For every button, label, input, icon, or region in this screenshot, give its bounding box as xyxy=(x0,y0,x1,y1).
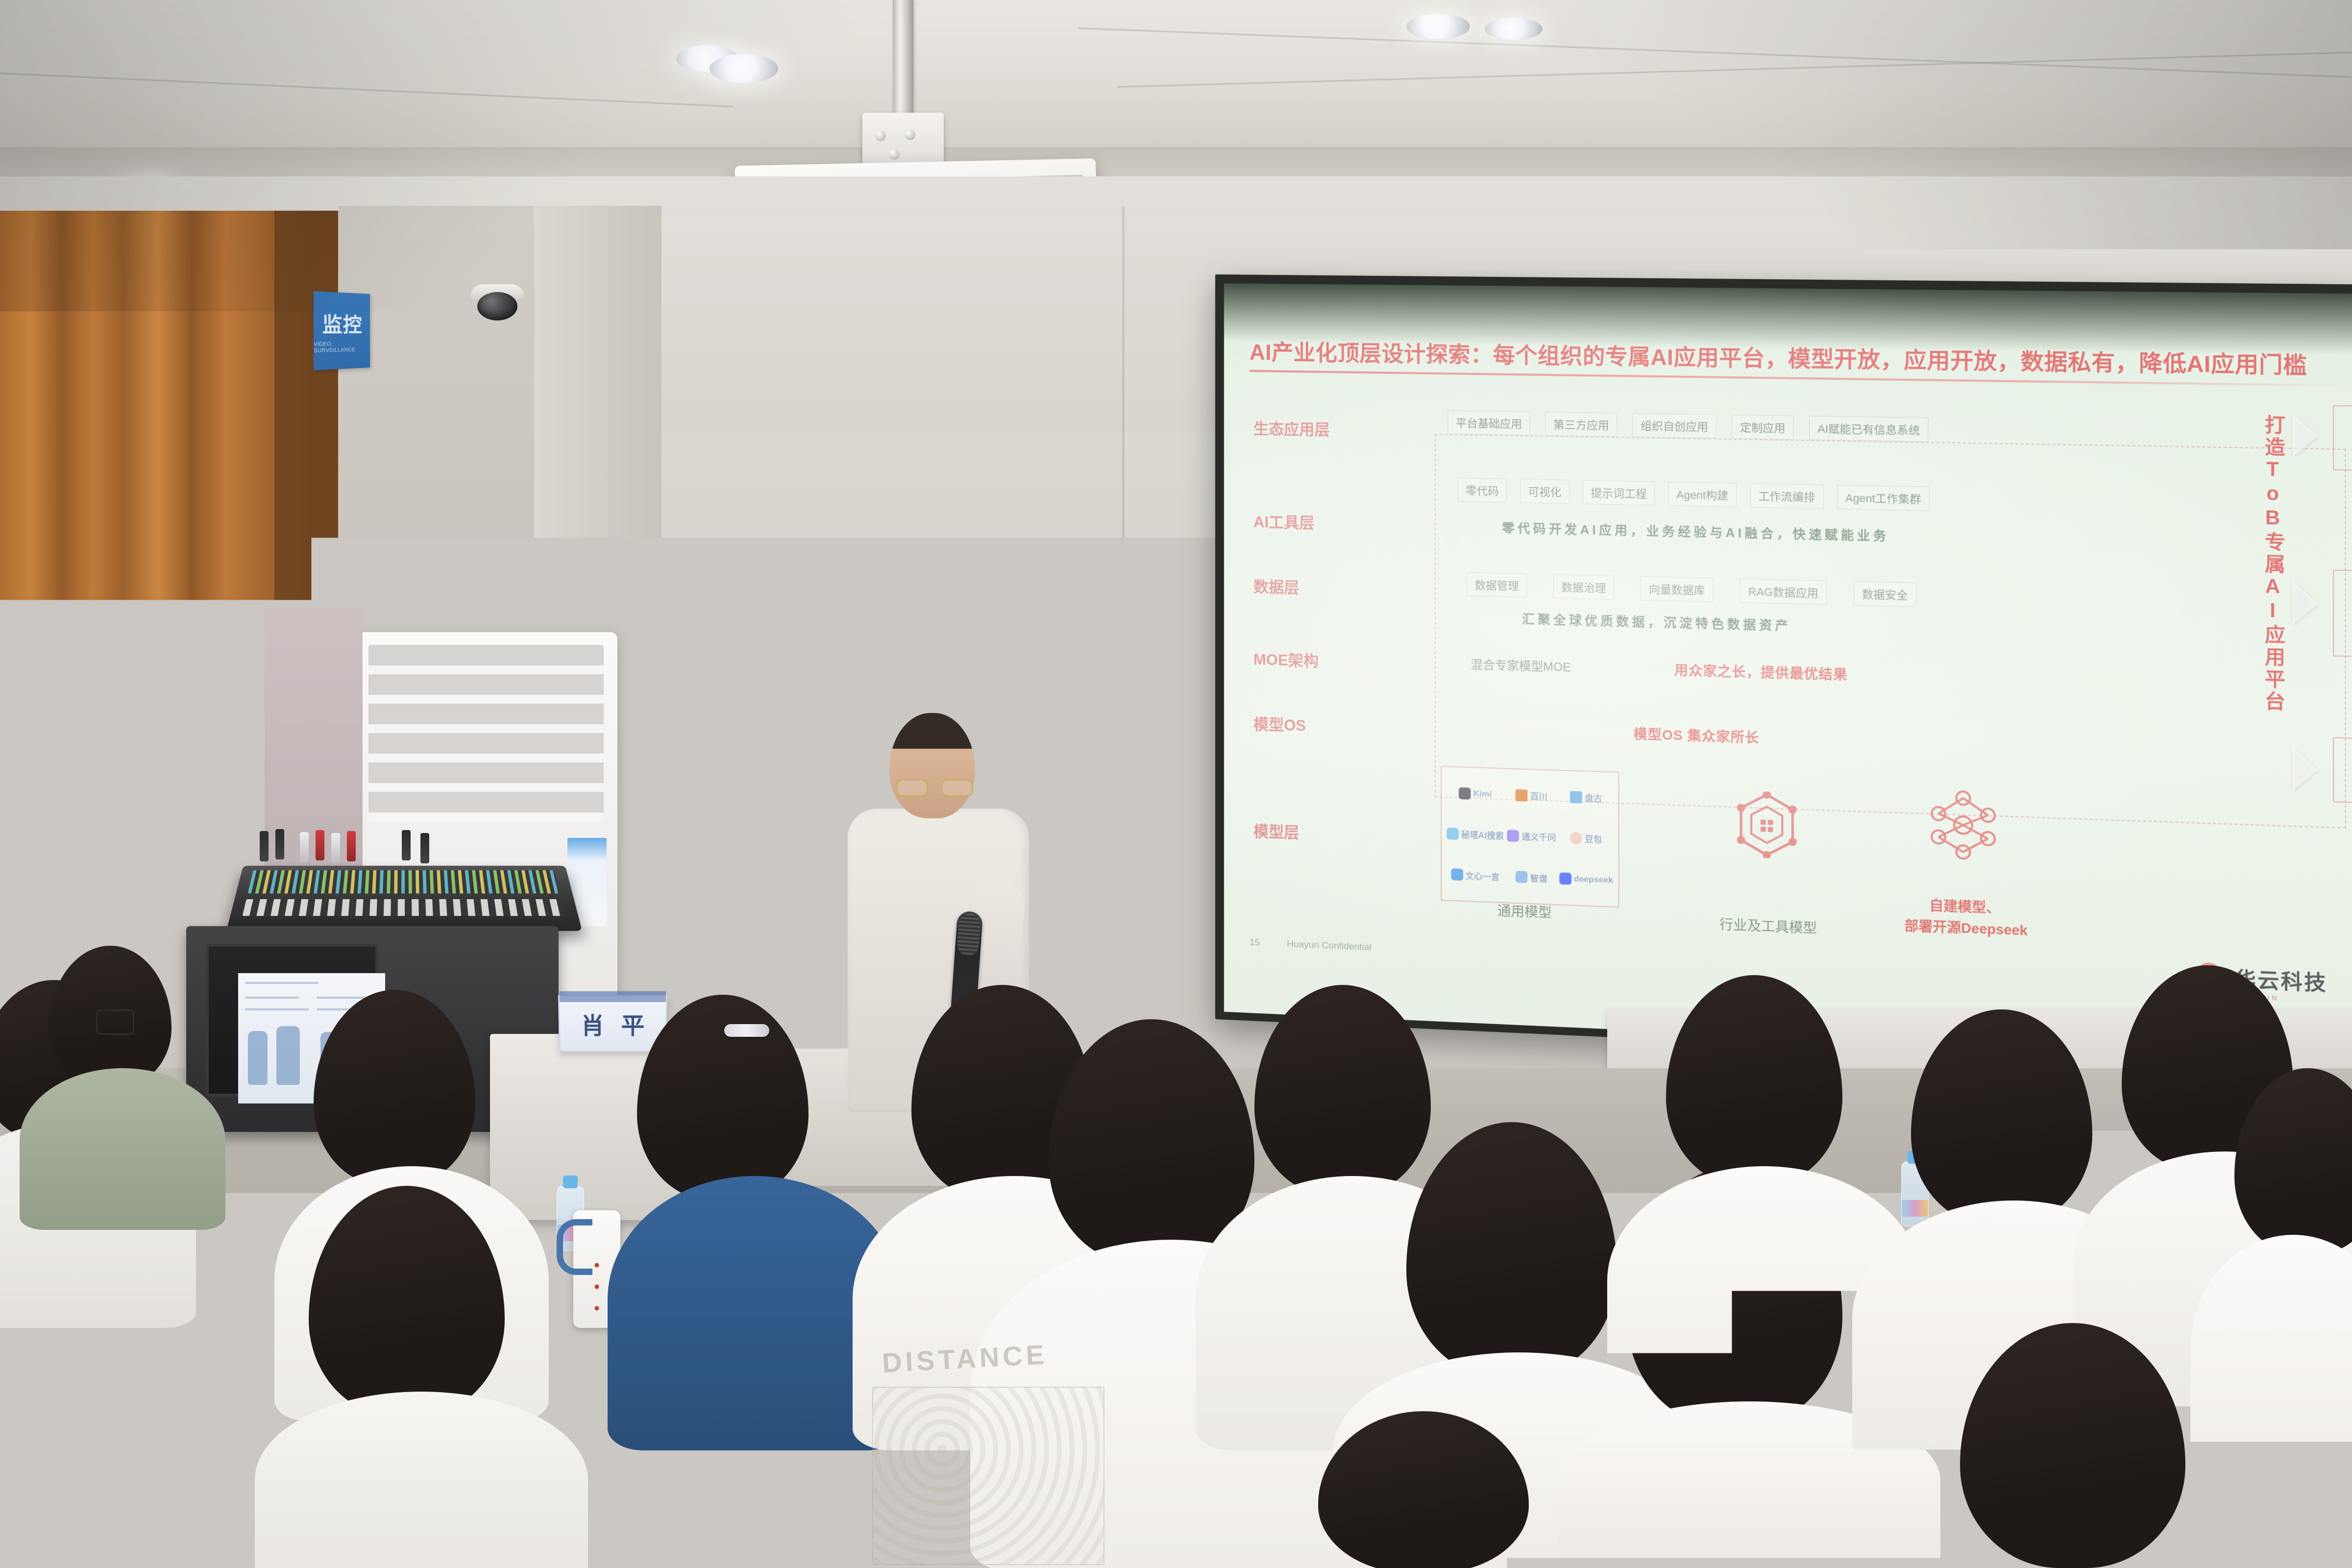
surveillance-sign: 监控 VIDEO SURVEILLANCE xyxy=(314,291,370,370)
seat-tag: 409椅41 xyxy=(162,1498,189,1545)
moe-model-text: 混合专家模型MOE xyxy=(1470,655,1570,675)
bracket-bolt xyxy=(875,130,886,141)
chip-item: 数据治理 xyxy=(1553,574,1614,600)
logo-label: Kimi xyxy=(1473,788,1492,799)
nameplate-char-1: 肖 xyxy=(581,1006,605,1040)
nameplate-char-2: 平 xyxy=(621,1006,645,1040)
outcome-box-ai-application: AI 应用 领先 xyxy=(2333,569,2352,660)
tshirt-graphic-art xyxy=(872,1387,1104,1565)
layer-label-model: 模型层 xyxy=(1253,819,1299,843)
logo-metaso: 秘塔AI搜索 xyxy=(1446,827,1504,842)
caption-self-built-line1: 自建模型、 xyxy=(1881,896,2049,919)
chip-item: 提示词工程 xyxy=(1583,480,1655,506)
mixer-cables xyxy=(255,828,480,867)
slide-page-number: 15 xyxy=(1249,937,1260,949)
logo-wenxin: 文心一言 xyxy=(1451,868,1499,882)
presenter-hand xyxy=(738,779,772,811)
layer-label-model-os: 模型OS xyxy=(1253,711,1306,735)
wall-seam xyxy=(657,602,1122,604)
logo-label: 通义千问 xyxy=(1521,830,1556,844)
tagline-model-os: 模型OS 集众家所长 xyxy=(1634,723,1760,747)
logo-doubao: 豆包 xyxy=(1570,832,1602,845)
logo-pangu: 盘古 xyxy=(1570,791,1602,805)
chip-item: 可视化 xyxy=(1520,479,1569,504)
ceiling xyxy=(0,0,2352,162)
logo-label: 文心一言 xyxy=(1466,869,1500,882)
general-model-logo-card: Kimi 百川 盘古 秘塔AI搜索 通义千问 豆包 文心一言 智谱 deepse… xyxy=(1441,766,1619,907)
logo-zhipu: 智谱 xyxy=(1516,871,1547,884)
chip-item: Agent构建 xyxy=(1668,482,1737,507)
presenter-head xyxy=(889,713,975,818)
logo-label: 秘塔AI搜索 xyxy=(1461,828,1504,841)
dome-camera-icon xyxy=(470,284,524,322)
hair-clip xyxy=(724,1024,769,1037)
chip-item: Agent工作集群 xyxy=(1837,485,1930,511)
audio-mixer[interactable] xyxy=(226,866,582,931)
vertical-slogan: 打造ToB专属AI应用平台 xyxy=(2258,415,2288,890)
layer-label-ecosystem: 生态应用层 xyxy=(1253,416,1330,440)
logo-label: deepseek xyxy=(1574,874,1613,885)
chip-item: 数据管理 xyxy=(1467,572,1527,598)
logo-label: 盘古 xyxy=(1585,791,1602,805)
bracket-bolt xyxy=(905,129,915,140)
lecture-hall-scene: XTP CRESTRON HDBT 监控 VIDEO SURVEILLANCE xyxy=(0,0,2352,1568)
chip-item: AI赋能已有信息系统 xyxy=(1809,416,1928,441)
chip-item: 工作流编排 xyxy=(1750,483,1824,509)
camera-dome xyxy=(477,292,517,320)
slide-confidential-note: Huayun Confidential xyxy=(1287,939,1372,953)
chip-item: RAG数据应用 xyxy=(1740,579,1827,605)
layer-label-ai-tools: AI工具层 xyxy=(1253,510,1315,533)
industry-model-hex-icon xyxy=(1736,790,1798,859)
wall-seam xyxy=(1122,206,1125,1000)
glasses-icon xyxy=(896,779,970,794)
xlr-connector xyxy=(300,832,309,862)
chip-item: 组织自创应用 xyxy=(1633,413,1716,439)
speaker-nameplate: 肖 平 xyxy=(558,995,668,1052)
logo-tongyi: 通义千问 xyxy=(1507,830,1556,844)
slide-content: AI产业化顶层设计探索：每个组织的专属AI应用平台，模型开放，应用开放，数据私有… xyxy=(1224,283,2352,1065)
self-built-model-network-icon xyxy=(1924,785,2003,864)
xlr-connector xyxy=(316,830,324,860)
thermos-handle xyxy=(557,1219,592,1275)
logo-kimi: Kimi xyxy=(1459,787,1492,800)
xlr-connector xyxy=(347,831,356,861)
chevron-right-icon xyxy=(2293,581,2318,625)
projection-screen: AI产业化顶层设计探索：每个组织的专属AI应用平台，模型开放，应用开放，数据私有… xyxy=(1215,274,2352,1074)
bracket-bolt xyxy=(889,149,900,160)
ceiling-downlight xyxy=(710,54,778,83)
caption-general-model: 通用模型 xyxy=(1467,899,1583,923)
ceiling-downlight xyxy=(1485,18,1543,40)
logo-label: 豆包 xyxy=(1585,832,1602,845)
logo-label: 百川 xyxy=(1530,789,1547,803)
outcome-box-business: 业务 领先 xyxy=(2333,405,2352,472)
logo-baichuan: 百川 xyxy=(1516,789,1547,803)
xlr-connector xyxy=(402,830,411,860)
xlr-connector xyxy=(260,831,269,861)
layer-label-moe: MOE架构 xyxy=(1253,647,1319,671)
chevron-right-icon xyxy=(2293,747,2318,791)
chip-item: 向量数据库 xyxy=(1641,576,1713,602)
logo-label: 智谱 xyxy=(1530,871,1547,884)
outcome-box-data: 数据 领先 xyxy=(2333,737,2352,806)
mixer-fader-row[interactable] xyxy=(243,899,565,916)
xlr-connector xyxy=(331,833,340,863)
screen-surface: AI产业化顶层设计探索：每个组织的专属AI应用平台，模型开放，应用开放，数据私有… xyxy=(1224,283,2352,1065)
chip-item: 第三方应用 xyxy=(1545,412,1617,437)
caption-self-built-line2: 部署开源Deepseek xyxy=(1861,916,2071,941)
chip-item: 平台基础应用 xyxy=(1447,410,1530,435)
xlr-connector xyxy=(420,833,429,863)
glasses-lens xyxy=(941,779,973,797)
xlr-connector xyxy=(275,829,284,859)
logo-deepseek: deepseek xyxy=(1559,873,1613,887)
aircon-louvers xyxy=(368,645,604,821)
glasses-lens xyxy=(896,779,928,797)
surveillance-sign-label: 监控 xyxy=(322,308,363,338)
chevron-right-icon xyxy=(2293,414,2318,458)
surveillance-sign-sub: VIDEO SURVEILLANCE xyxy=(314,341,370,354)
layer-label-data: 数据层 xyxy=(1253,574,1299,597)
glasses-icon xyxy=(96,1009,134,1035)
mixer-knob-row[interactable] xyxy=(248,870,560,893)
caption-industry-model: 行业及工具模型 xyxy=(1705,913,1832,937)
chip-item: 数据安全 xyxy=(1854,581,1916,607)
ceiling-downlight xyxy=(1406,14,1470,39)
chip-item: 定制应用 xyxy=(1732,415,1793,440)
thermos-pattern xyxy=(588,1254,606,1318)
chip-item: 零代码 xyxy=(1458,478,1507,503)
